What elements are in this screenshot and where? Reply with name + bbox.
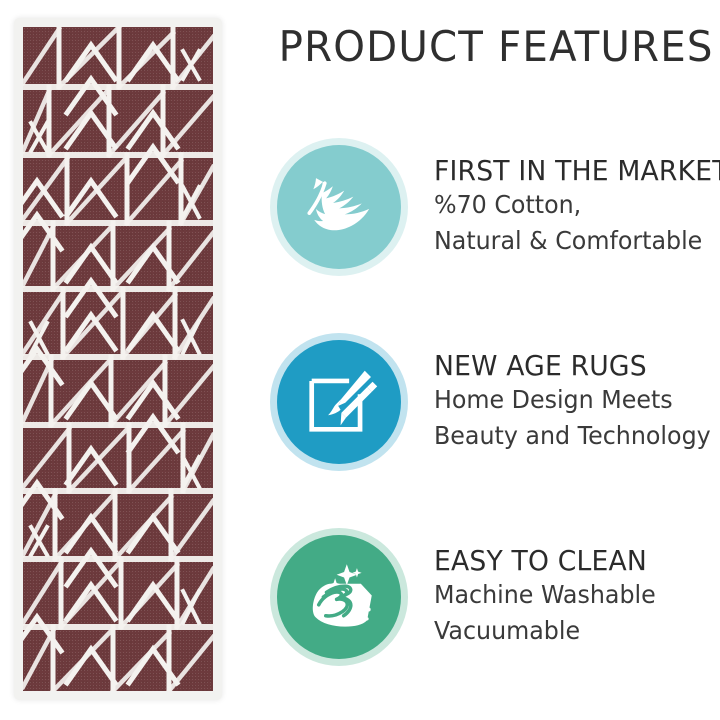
- feature-line-3-2: Vacuumable: [434, 613, 656, 649]
- rug-pattern-field: [23, 27, 213, 691]
- rug-border: [14, 18, 222, 700]
- feature-line-1-2: Natural & Comfortable: [434, 223, 720, 259]
- feature-title-3: EASY TO CLEAN: [434, 544, 656, 577]
- feature-line-2-2: Beauty and Technology: [434, 418, 711, 454]
- feather-icon: [300, 168, 378, 246]
- product-rug-image: [14, 18, 222, 700]
- design-pen-pencil-icon: [300, 363, 378, 441]
- feature-line-1-1: %70 Cotton,: [434, 187, 720, 223]
- cleaning-hand-sparkle-icon: [300, 558, 378, 636]
- feature-text-1: FIRST IN THE MARKET %70 Cotton, Natural …: [434, 154, 720, 260]
- feature-row-new-age-rugs: NEW AGE RUGS Home Design Meets Beauty an…: [270, 327, 710, 477]
- feature-text-2: NEW AGE RUGS Home Design Meets Beauty an…: [434, 349, 720, 455]
- feature-icon-badge-3: [270, 528, 408, 666]
- feature-title-1: FIRST IN THE MARKET: [434, 154, 720, 187]
- page-title: PRODUCT FEATURES: [279, 22, 692, 71]
- product-features-infographic: PRODUCT FEATURES FIRST IN THE MARKET %70…: [0, 0, 720, 720]
- feature-title-2: NEW AGE RUGS: [434, 349, 711, 382]
- feature-icon-badge-1: [270, 138, 408, 276]
- feature-row-first-in-the-market: FIRST IN THE MARKET %70 Cotton, Natural …: [270, 132, 710, 282]
- feature-icon-badge-2: [270, 333, 408, 471]
- feature-line-3-1: Machine Washable: [434, 577, 656, 613]
- feature-text-3: EASY TO CLEAN Machine Washable Vacuumabl…: [434, 544, 667, 650]
- feature-row-easy-to-clean: EASY TO CLEAN Machine Washable Vacuumabl…: [270, 522, 710, 672]
- feature-line-2-1: Home Design Meets: [434, 382, 711, 418]
- rug-geometric-pattern: [23, 27, 213, 691]
